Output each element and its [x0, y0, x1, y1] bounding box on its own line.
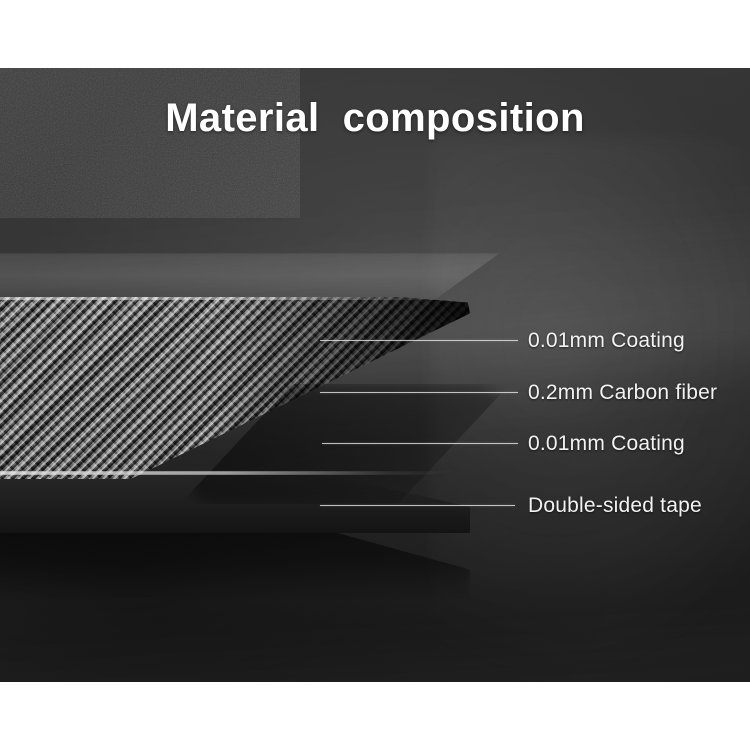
- leader-line-carbon-fiber: [320, 392, 518, 393]
- letterbox-band-top: [0, 0, 750, 68]
- noise-grain-overlay: [0, 68, 300, 218]
- leader-line-coating-top: [320, 340, 518, 341]
- letterbox-band-bottom: [0, 682, 750, 750]
- callout-label-coating-top: 0.01mm Coating: [528, 330, 685, 351]
- top-surface-reflection: [0, 253, 500, 301]
- callout-label-coating-bottom: 0.01mm Coating: [528, 433, 685, 454]
- callout-label-double-sided-tape: Double-sided tape: [528, 495, 702, 516]
- product-infographic: Material composition 0.01mm Coating 0.2m…: [0, 0, 750, 750]
- bottom-coating-highlight-edge: [0, 471, 460, 475]
- noise-grain-dark-overlay: [0, 68, 300, 218]
- leader-line-coating-bottom: [322, 443, 518, 444]
- leader-line-double-sided-tape: [320, 505, 515, 506]
- callout-label-carbon-fiber: 0.2mm Carbon fiber: [528, 382, 717, 403]
- page-title: Material composition: [0, 96, 750, 141]
- top-coating-highlight-edge: [0, 297, 470, 300]
- lower-light-sheen: [0, 601, 750, 682]
